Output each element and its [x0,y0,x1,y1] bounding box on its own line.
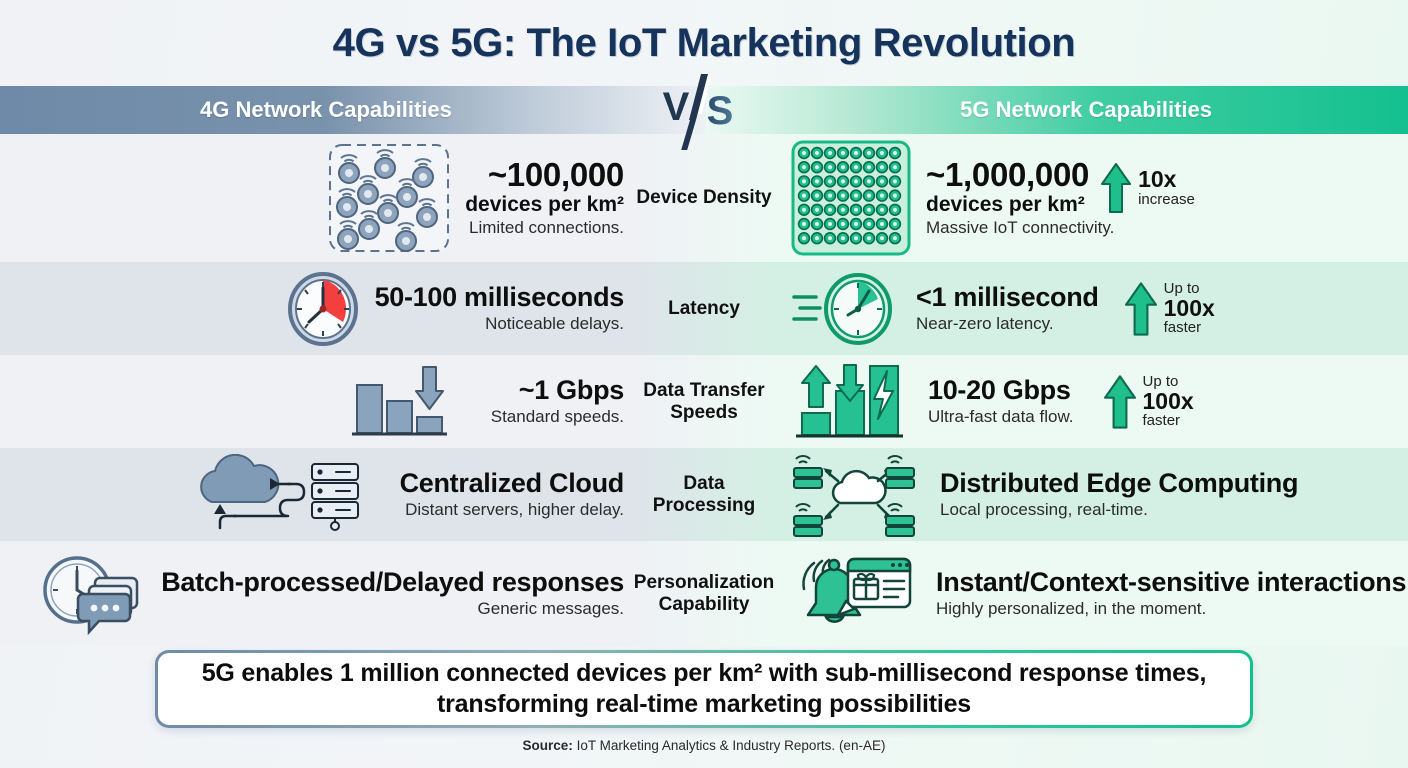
comparison-rows: ~100,000 devices per km² Limited connect… [0,134,1408,646]
row-1-boost-post: increase [1138,192,1195,208]
cloud-server-icon [184,454,374,536]
row-5-right-text: Instant/Context-sensitive interactions H… [936,568,1406,619]
row-2-left-text: 50-100 milliseconds Noticeable delays. [375,283,624,334]
row-1-left-note: Limited connections. [465,218,624,238]
metric-label-text: Data Transfer Speeds [632,380,776,423]
row-1-right-note: Massive IoT connectivity. [926,218,1195,238]
row-3-right-note: Ultra-fast data flow. [928,407,1074,427]
row-3-left-note: Standard speeds. [491,407,624,427]
row-4-left-text: Centralized Cloud Distant servers, highe… [400,469,624,520]
device-grid-icon [790,139,912,257]
row-4-left-value: Centralized Cloud [400,469,624,498]
row-4-right-value: Distributed Edge Computing [940,469,1298,498]
row-2-boost-num: 100x [1164,297,1215,321]
row-2-boost-badge: Up to 100x faster [1125,281,1215,337]
comparison-header-bar: 4G Network Capabilities 5G Network Capab… [0,86,1408,134]
up-arrow-icon [1101,162,1131,214]
metric-label-text: Personalization Capability [632,572,776,615]
row-1-boost-num: 10x [1138,168,1195,192]
row-5-right-cell: Instant/Context-sensitive interactions H… [776,541,1408,646]
row-1-right-unit: devices per km² [926,193,1089,217]
source-label: Source: [523,738,573,753]
row-1-left-cell: ~100,000 devices per km² Limited connect… [0,134,632,262]
metric-label-personalization-capability: Personalization Capability [632,541,776,646]
row-2-right-value: <1 millisecond [916,283,1099,312]
row-1-right-cell: ~1,000,000 devices per km² 10x increase [776,134,1408,262]
row-4-right-text: Distributed Edge Computing Local process… [940,469,1298,520]
row-3-left-cell: ~1 Gbps Standard speeds. [0,355,632,448]
row-5-left-cell: Batch-processed/Delayed responses Generi… [0,541,632,646]
row-3-left-text: ~1 Gbps Standard speeds. [491,376,624,427]
row-1-left-unit: devices per km² [465,193,624,217]
row-1-left-text: ~100,000 devices per km² Limited connect… [465,158,624,239]
row-3-right-cell: 10-20 Gbps Ultra-fast data flow. Up to 1… [776,355,1408,448]
bar-chart-up-bolt-icon [790,361,906,443]
title-bar: 4G vs 5G: The IoT Marketing Revolution [0,0,1408,86]
row-4-right-note: Local processing, real-time. [940,500,1298,520]
row-personalization-capability: Batch-processed/Delayed responses Generi… [0,541,1408,646]
row-5-left-note: Generic messages. [161,599,624,619]
header-4g: 4G Network Capabilities [0,86,706,134]
clock-chat-icon [37,550,141,638]
clock-fast-icon [790,271,898,347]
header-5g: 5G Network Capabilities [706,86,1408,134]
row-2-boost-post: faster [1164,320,1215,336]
row-2-right-cell: <1 millisecond Near-zero latency. Up to … [776,262,1408,355]
callout-text: 5G enables 1 million connected devices p… [158,658,1250,721]
up-arrow-icon [1125,281,1157,337]
row-5-left-value: Batch-processed/Delayed responses [161,568,624,597]
row-5-left-text: Batch-processed/Delayed responses Generi… [161,568,624,619]
edge-nodes-cloud-icon [790,451,918,539]
bell-notification-icon [790,551,916,637]
row-4-right-cell: Distributed Edge Computing Local process… [776,448,1408,541]
header-4g-label: 4G Network Capabilities [200,97,452,123]
row-2-left-cell: 50-100 milliseconds Noticeable delays. [0,262,632,355]
metric-label-device-density: Device Density [632,134,776,262]
row-2-right-text: <1 millisecond Near-zero latency. [916,283,1099,334]
row-4-left-note: Distant servers, higher delay. [400,500,624,520]
device-scatter-icon [327,142,451,254]
row-4-left-cell: Centralized Cloud Distant servers, highe… [0,448,632,541]
row-latency: 50-100 milliseconds Noticeable delays. L… [0,262,1408,355]
clock-slow-icon [285,270,361,348]
metric-label-latency: Latency [632,262,776,355]
row-1-right-text: ~1,000,000 devices per km² 10x increase [926,158,1195,239]
row-data-transfer-speeds: ~1 Gbps Standard speeds. Data Transfer S… [0,355,1408,448]
key-takeaway-callout: 5G enables 1 million connected devices p… [155,650,1253,728]
source-line: Source: IoT Marketing Analytics & Indust… [0,738,1408,753]
row-2-left-value: 50-100 milliseconds [375,283,624,312]
row-1-right-value: ~1,000,000 [926,158,1089,193]
row-5-right-value: Instant/Context-sensitive interactions [936,568,1406,597]
header-5g-label: 5G Network Capabilities [960,97,1212,123]
callout-section: 5G enables 1 million connected devices p… [0,650,1408,753]
row-3-right-text: 10-20 Gbps Ultra-fast data flow. [928,376,1074,427]
row-3-left-value: ~1 Gbps [491,376,624,405]
row-1-left-value: ~100,000 [465,158,624,193]
row-2-right-note: Near-zero latency. [916,314,1099,334]
row-3-right-value: 10-20 Gbps [928,376,1074,405]
row-3-boost-badge: Up to 100x faster [1104,374,1194,430]
up-arrow-icon [1104,374,1136,430]
bar-chart-down-icon [347,363,451,441]
row-2-left-note: Noticeable delays. [375,314,624,334]
row-5-right-note: Highly personalized, in the moment. [936,599,1406,619]
metric-label-data-processing: Data Processing [632,448,776,541]
row-3-boost-post: faster [1143,413,1194,429]
row-1-boost-badge: 10x increase [1101,162,1195,214]
row-data-processing: Centralized Cloud Distant servers, highe… [0,448,1408,541]
row-3-boost-num: 100x [1143,390,1194,414]
source-text: IoT Marketing Analytics & Industry Repor… [577,738,886,753]
row-device-density: ~100,000 devices per km² Limited connect… [0,134,1408,262]
metric-label-data-transfer-speeds: Data Transfer Speeds [632,355,776,448]
page-title: 4G vs 5G: The IoT Marketing Revolution [333,21,1076,66]
